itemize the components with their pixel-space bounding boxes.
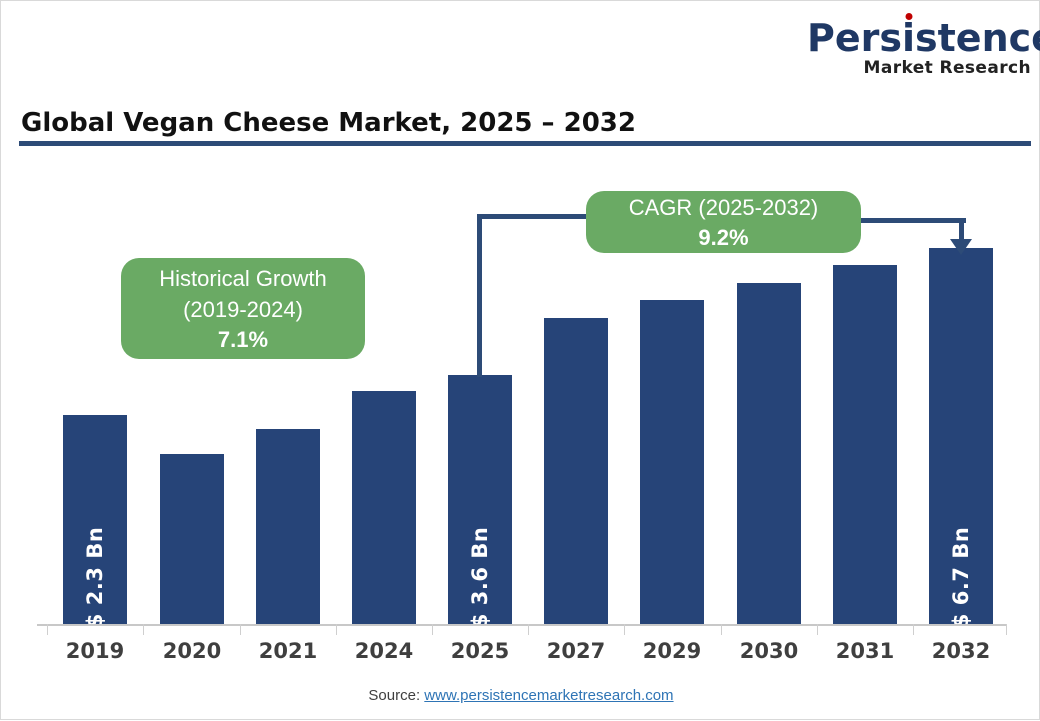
x-axis-tick: [817, 624, 818, 635]
cagr-connector-horizontal-right: [856, 218, 966, 223]
bar-2019: US$ 2.3 Bn: [63, 415, 127, 624]
x-axis-label-2025: 2025: [425, 639, 535, 663]
x-axis-label-2019: 2019: [40, 639, 150, 663]
bar-2027: [544, 318, 608, 624]
cagr-value: 9.2%: [698, 223, 748, 252]
source-footer: Source: www.persistencemarketresearch.co…: [1, 687, 1040, 704]
x-axis-label-2021: 2021: [233, 639, 343, 663]
cagr-callout: CAGR (2025-2032) 9.2%: [586, 191, 861, 253]
cagr-connector-vertical-left: [477, 214, 482, 377]
x-axis-tick: [432, 624, 433, 635]
x-axis-tick: [143, 624, 144, 635]
x-axis-label-2032: 2032: [906, 639, 1016, 663]
x-axis-tick: [913, 624, 914, 635]
bar-2020: [160, 454, 224, 624]
cagr-connector-horizontal-left: [477, 214, 592, 219]
bar-2025: US$ 3.6 Bn: [448, 375, 512, 624]
historical-growth-line2: (2019-2024): [183, 294, 303, 325]
x-axis-line: [37, 624, 1007, 626]
bar-2031: [833, 265, 897, 624]
x-axis-tick: [240, 624, 241, 635]
x-axis-tick: [336, 624, 337, 635]
x-axis-tick: [47, 624, 48, 635]
historical-growth-callout: Historical Growth (2019-2024) 7.1%: [121, 258, 365, 359]
x-axis-tick: [1006, 624, 1007, 635]
bar-chart-plot-area: US$ 2.3 Bn US$ 3.6 Bn US$ 6.7 Bn: [1, 1, 1040, 721]
x-axis-tick: [721, 624, 722, 635]
historical-growth-line1: Historical Growth: [159, 263, 326, 294]
bar-2024: [352, 391, 416, 624]
x-axis-label-2027: 2027: [521, 639, 631, 663]
historical-growth-value: 7.1%: [218, 325, 268, 354]
cagr-line1: CAGR (2025-2032): [629, 192, 819, 223]
bar-2030: [737, 283, 801, 624]
source-link[interactable]: www.persistencemarketresearch.com: [424, 687, 673, 704]
x-axis-label-2030: 2030: [714, 639, 824, 663]
x-axis-label-2020: 2020: [137, 639, 247, 663]
x-axis-tick: [624, 624, 625, 635]
chart-page: Persistence Market Research Global Vegan…: [0, 0, 1040, 720]
bar-2032: US$ 6.7 Bn: [929, 248, 993, 624]
bar-2029: [640, 300, 704, 624]
source-prefix: Source:: [368, 687, 424, 704]
x-axis-tick: [528, 624, 529, 635]
x-axis-label-2029: 2029: [617, 639, 727, 663]
arrow-down-icon: [950, 239, 972, 255]
bar-2021: [256, 429, 320, 624]
x-axis-label-2024: 2024: [329, 639, 439, 663]
x-axis-label-2031: 2031: [810, 639, 920, 663]
